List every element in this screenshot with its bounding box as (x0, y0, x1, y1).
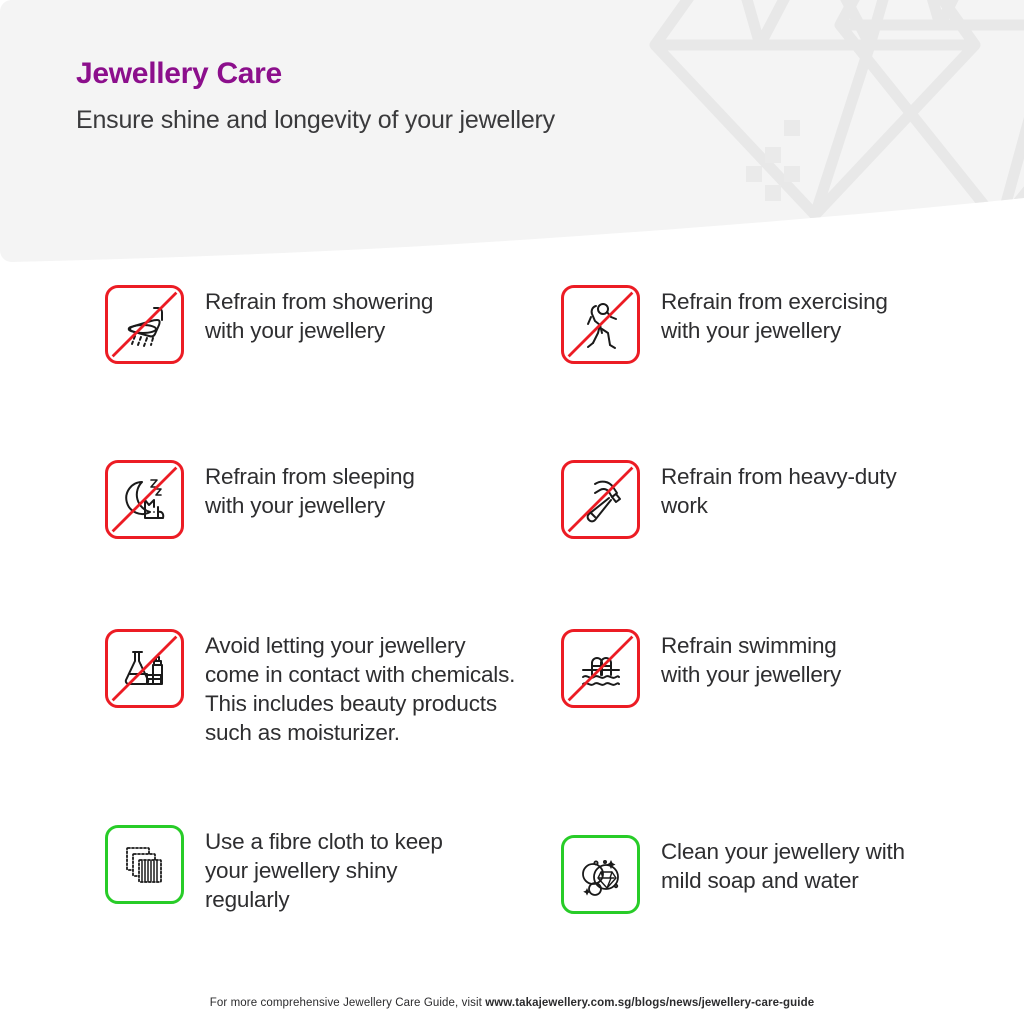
tip-text: Clean your jewellery with mild soap and … (661, 835, 905, 895)
tip-item-clean-soap: Clean your jewellery with mild soap and … (561, 835, 905, 914)
shower-head-icon (105, 285, 184, 364)
header-band: Jewellery Care Ensure shine and longevit… (0, 0, 1024, 275)
tip-row: Refrain from showering with your jewelle… (0, 268, 1024, 440)
tip-row: Avoid letting your jewellery come in con… (0, 615, 1024, 805)
tip-text: Refrain from heavy-duty work (661, 460, 897, 520)
soap-bubbles-diamond-icon (561, 835, 640, 914)
infographic-page: Jewellery Care Ensure shine and longevit… (0, 0, 1024, 1024)
page-title: Jewellery Care (76, 56, 555, 92)
tip-text: Refrain swimming with your jewellery (661, 629, 841, 689)
tips-grid: Refrain from showering with your jewelle… (0, 268, 1024, 925)
fibre-cloth-icon (105, 825, 184, 904)
tip-item-exercising: Refrain from exercising with your jewell… (561, 285, 888, 364)
tip-text: Refrain from sleeping with your jeweller… (205, 460, 415, 520)
tip-row: Refrain from sleeping with your jeweller… (0, 440, 1024, 615)
sleeping-moon-cat-icon (105, 460, 184, 539)
tip-row: Use a fibre cloth to keep your jewellery… (0, 805, 1024, 925)
exercising-person-icon (561, 285, 640, 364)
tip-item-swimming: Refrain swimming with your jewellery (561, 629, 841, 708)
hammer-icon (561, 460, 640, 539)
tip-item-showering: Refrain from showering with your jewelle… (105, 285, 433, 364)
tip-text: Refrain from exercising with your jewell… (661, 285, 888, 345)
header-text-block: Jewellery Care Ensure shine and longevit… (76, 56, 555, 136)
tip-item-chemicals: Avoid letting your jewellery come in con… (105, 629, 515, 747)
tip-text: Refrain from showering with your jewelle… (205, 285, 433, 345)
page-subtitle: Ensure shine and longevity of your jewel… (76, 105, 555, 136)
tip-text: Avoid letting your jewellery come in con… (205, 629, 515, 747)
header-band-shape (0, 0, 1024, 275)
tip-text: Use a fibre cloth to keep your jewellery… (205, 825, 443, 914)
swimming-pool-icon (561, 629, 640, 708)
tip-item-fibre-cloth: Use a fibre cloth to keep your jewellery… (105, 825, 443, 914)
tip-item-sleeping: Refrain from sleeping with your jeweller… (105, 460, 415, 539)
footer-url[interactable]: www.takajewellery.com.sg/blogs/news/jewe… (485, 997, 814, 1009)
footer-prefix: For more comprehensive Jewellery Care Gu… (210, 997, 485, 1009)
chemicals-flask-icon (105, 629, 184, 708)
tip-item-heavy-duty: Refrain from heavy-duty work (561, 460, 897, 539)
footer: For more comprehensive Jewellery Care Gu… (0, 997, 1024, 1009)
